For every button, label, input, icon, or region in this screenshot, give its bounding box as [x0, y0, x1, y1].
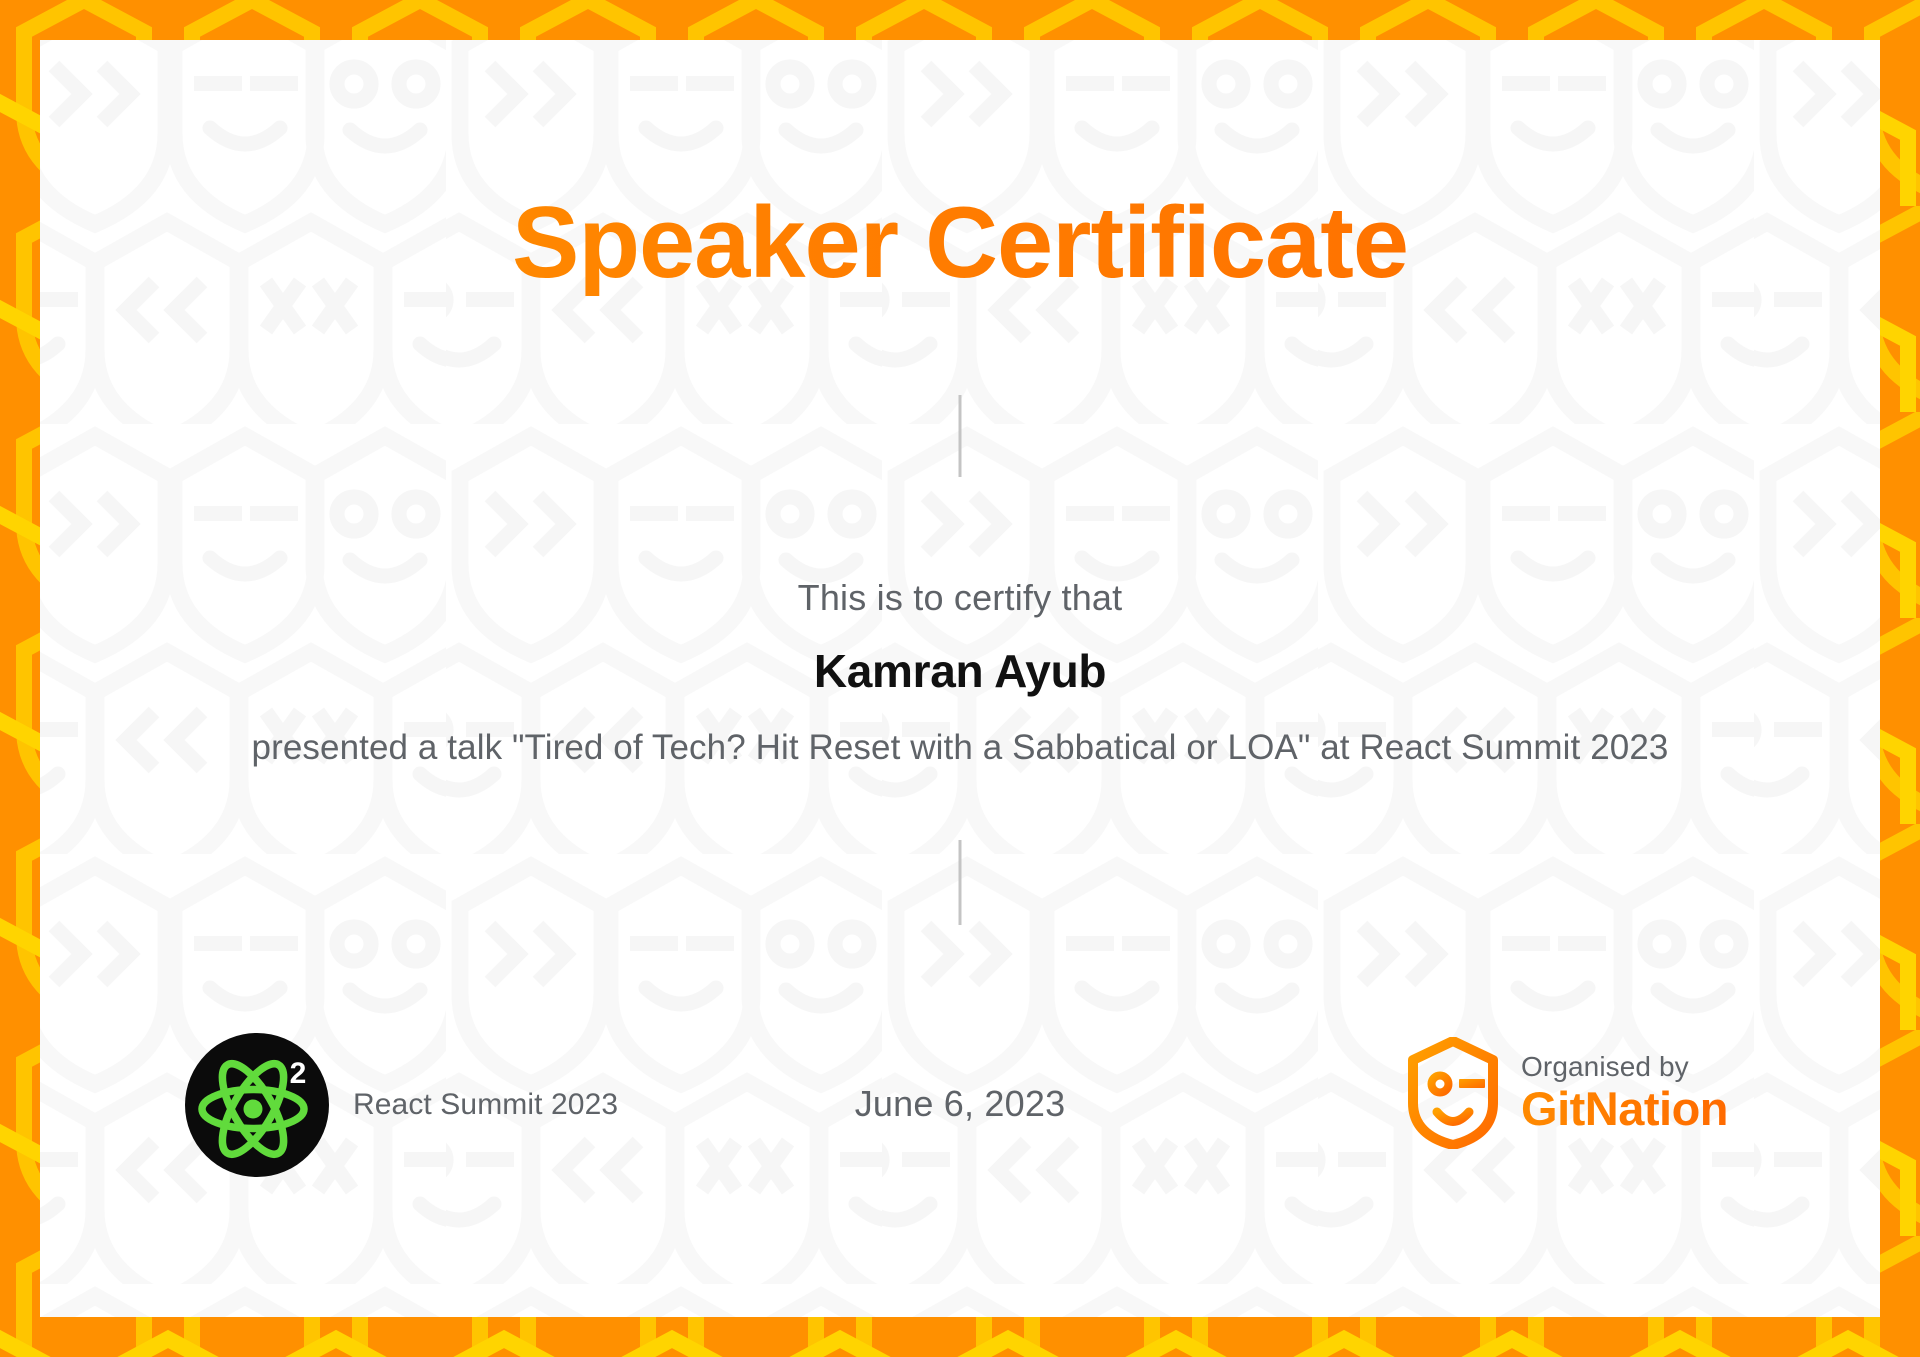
event-name-label: React Summit 2023	[353, 1088, 618, 1122]
certificate-card: Speaker Certificate This is to certify t…	[40, 40, 1880, 1317]
certificate-title: Speaker Certificate	[40, 190, 1880, 296]
organiser-badge: Organised by GitNation	[1407, 1037, 1728, 1149]
speaker-certificate: Speaker Certificate This is to certify t…	[0, 0, 1920, 1357]
certificate-footer: 2 React Summit 2023 June 6, 2023	[40, 1025, 1880, 1235]
recipient-name: Kamran Ayub	[40, 644, 1880, 698]
react-atom-icon: 2	[185, 1033, 329, 1177]
talk-description: presented a talk "Tired of Tech? Hit Res…	[250, 726, 1670, 771]
organiser-prefix-label: Organised by	[1521, 1051, 1728, 1083]
react-logo-superscript: 2	[290, 1057, 307, 1090]
divider-bottom	[959, 840, 962, 925]
certify-statement: This is to certify that	[40, 575, 1880, 622]
event-badge: 2 React Summit 2023	[185, 1033, 618, 1177]
gitnation-shield-face-icon	[1407, 1037, 1499, 1149]
certificate-body: This is to certify that Kamran Ayub pres…	[40, 575, 1880, 771]
divider-top	[959, 395, 962, 477]
organiser-name-label: GitNation	[1521, 1083, 1728, 1136]
issue-date: June 6, 2023	[855, 1083, 1066, 1125]
